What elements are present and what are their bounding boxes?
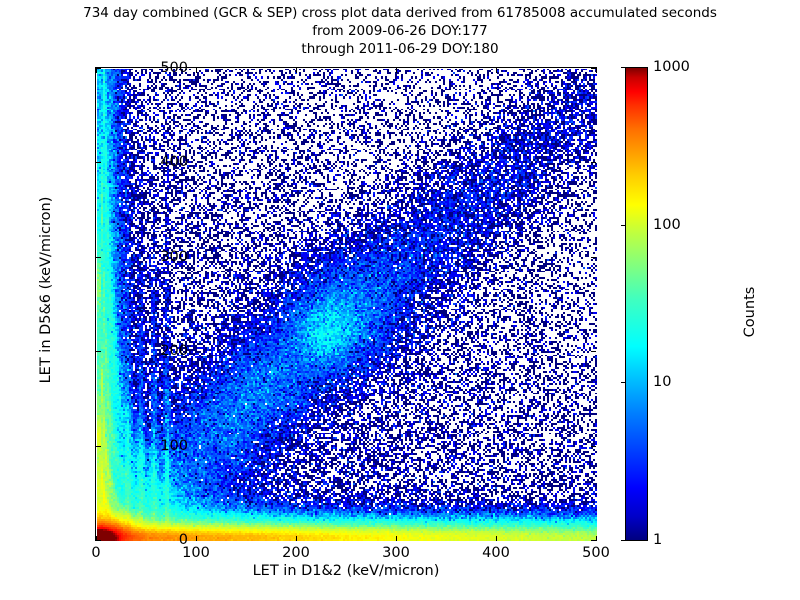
colorbar-ticklabel-100: 100 [653, 217, 681, 233]
y-ticklabel-100: 100 [160, 438, 188, 454]
colorbar-label: Counts [742, 162, 758, 462]
x-tick-200 [296, 536, 297, 541]
x-ticklabel-400: 400 [482, 545, 510, 561]
figure-canvas: 734 day combined (GCR & SEP) cross plot … [0, 0, 800, 600]
x-tick-300 [396, 536, 397, 541]
x-tick-top-100 [196, 68, 197, 73]
y-ticklabel-200: 200 [160, 343, 188, 359]
x-ticklabel-200: 200 [282, 545, 310, 561]
x-tick-100 [196, 536, 197, 541]
y-tick-right-400 [591, 162, 596, 163]
x-ticklabel-0: 0 [91, 545, 100, 561]
x-tick-500 [596, 536, 597, 541]
x-ticklabel-300: 300 [382, 545, 410, 561]
y-tick-0 [96, 540, 101, 541]
y-ticklabel-500: 500 [160, 60, 188, 76]
x-tick-top-300 [396, 68, 397, 73]
colorbar-ticklabel-10: 10 [653, 374, 671, 390]
plot-axes [95, 67, 597, 541]
y-tick-right-200 [591, 351, 596, 352]
colorbar-container: 1 10 100 1000 [625, 67, 648, 541]
colorbar-ticklabel-1000: 1000 [653, 59, 690, 75]
y-tick-right-300 [591, 257, 596, 258]
y-tick-400 [96, 162, 101, 163]
colorbar-gradient [625, 67, 648, 541]
figure-title: 734 day combined (GCR & SEP) cross plot … [0, 4, 800, 58]
scatter-density-plot [97, 69, 597, 541]
y-tick-right-500 [591, 68, 596, 69]
colorbar-tick-100 [621, 225, 626, 226]
y-tick-300 [96, 257, 101, 258]
title-line-1: 734 day combined (GCR & SEP) cross plot … [0, 4, 800, 22]
y-tick-500 [96, 68, 101, 69]
colorbar-tick-1 [621, 540, 626, 541]
y-tick-right-100 [591, 446, 596, 447]
y-axis-label: LET in D5&6 (keV/micron) [38, 140, 54, 440]
x-axis-label: LET in D1&2 (keV/micron) [95, 563, 597, 579]
x-tick-top-500 [596, 68, 597, 73]
colorbar-tick-10 [621, 382, 626, 383]
y-tick-200 [96, 351, 101, 352]
colorbar-ticklabel-1: 1 [653, 532, 662, 548]
x-tick-top-400 [496, 68, 497, 73]
x-ticklabel-500: 500 [582, 545, 610, 561]
y-tick-100 [96, 446, 101, 447]
x-tick-top-200 [296, 68, 297, 73]
x-tick-400 [496, 536, 497, 541]
y-ticklabel-0: 0 [179, 532, 188, 548]
colorbar-tick-1000 [621, 67, 626, 68]
y-ticklabel-300: 300 [160, 249, 188, 265]
title-line-3: through 2011-06-29 DOY:180 [0, 40, 800, 58]
title-line-2: from 2009-06-26 DOY:177 [0, 22, 800, 40]
y-tick-right-0 [591, 540, 596, 541]
y-ticklabel-400: 400 [160, 154, 188, 170]
